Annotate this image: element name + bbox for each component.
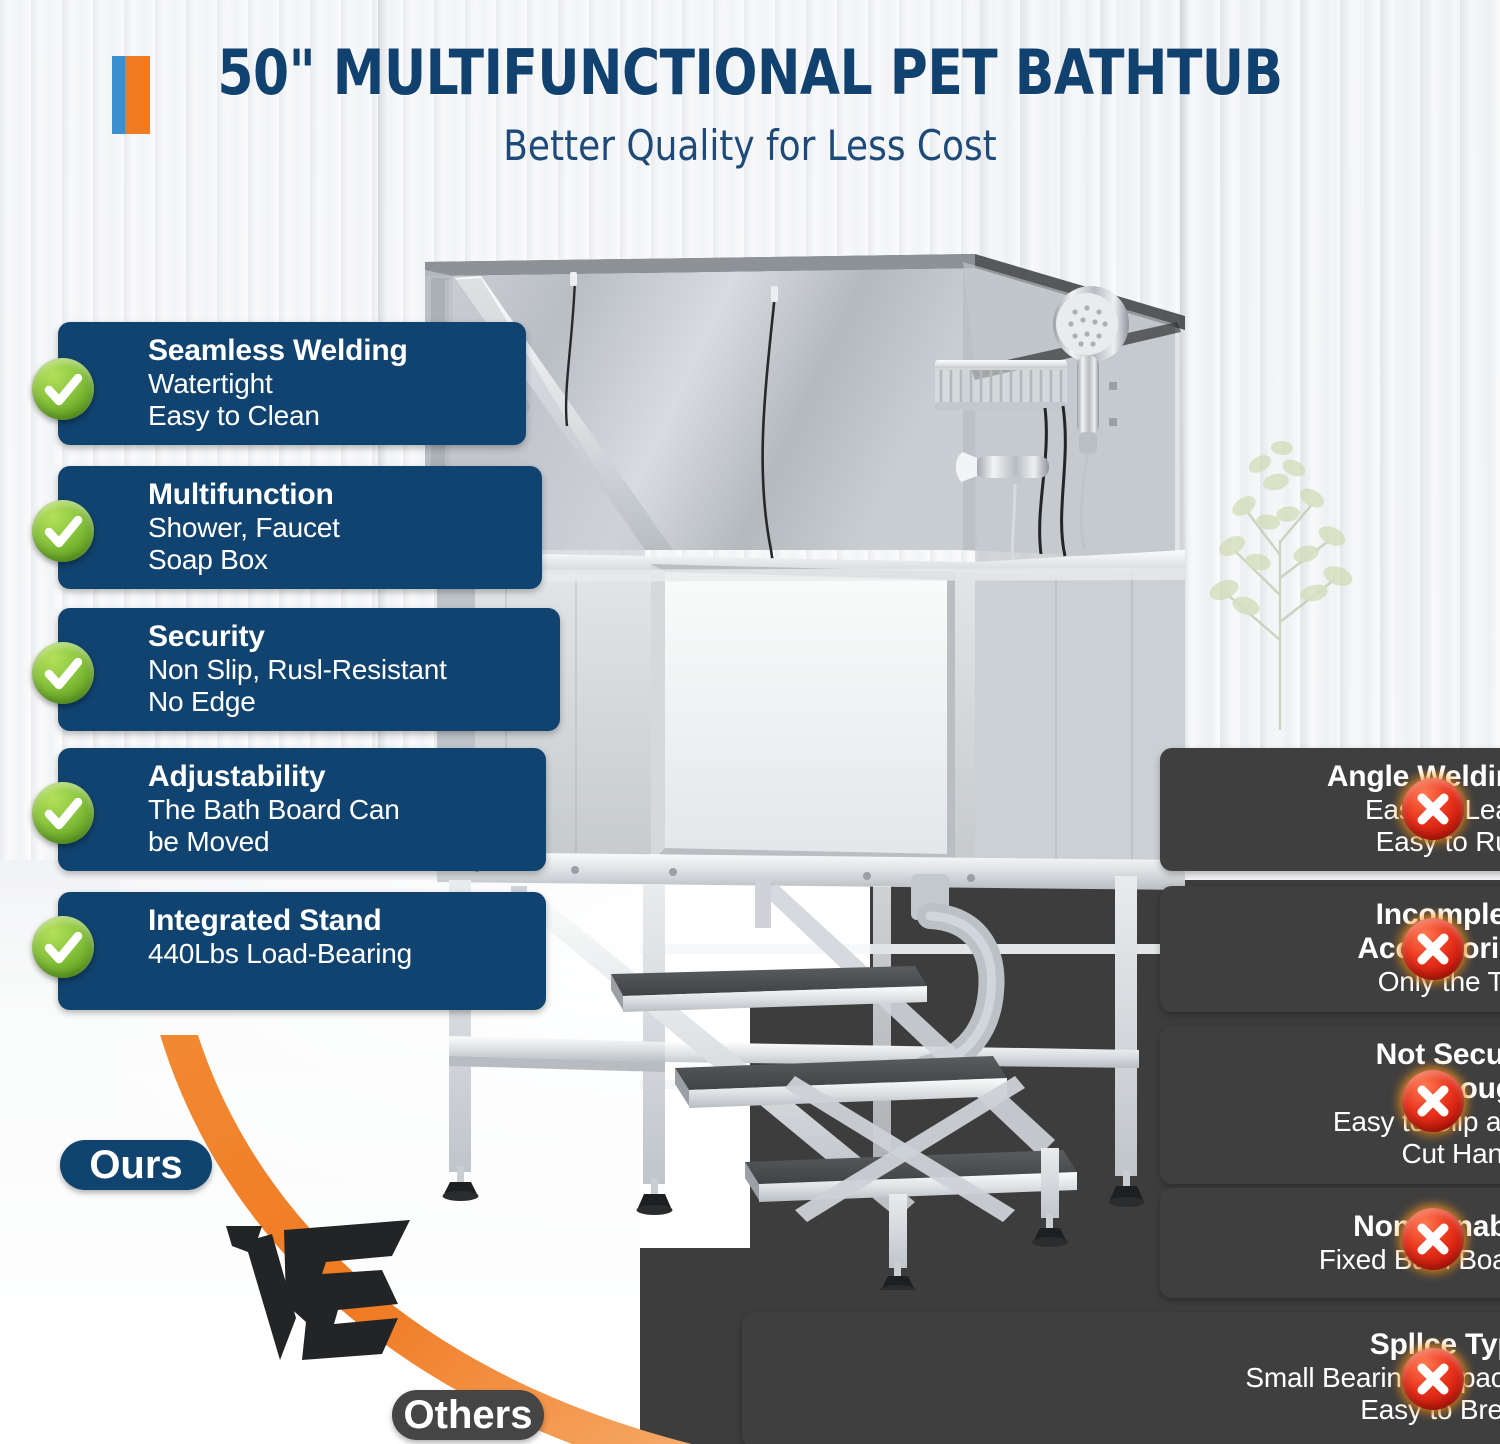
pro-badge-4[interactable]: Adjustability The Bath Board Can be Move… bbox=[58, 748, 546, 871]
shower-handle bbox=[1077, 356, 1099, 434]
con-line: Easy to Break bbox=[762, 1394, 1500, 1426]
cross-icon bbox=[1402, 1208, 1464, 1270]
pro-badge-5[interactable]: Integrated Stand 440Lbs Load-Bearing bbox=[58, 892, 546, 1010]
check-icon bbox=[32, 642, 94, 704]
check-icon bbox=[32, 358, 94, 420]
cross-icon bbox=[1402, 918, 1464, 980]
con-badge-5[interactable]: Spllce Type Small Bearing Capacity Easy … bbox=[742, 1312, 1500, 1444]
pro-line: Easy to Clean bbox=[148, 400, 510, 432]
vs-logo bbox=[222, 1212, 412, 1362]
cross-icon bbox=[1402, 778, 1464, 840]
cross-icon bbox=[1402, 1348, 1464, 1410]
pro-badge-2[interactable]: Multifunction Shower, Faucet Soap Box bbox=[58, 466, 542, 589]
pro-line: The Bath Board Can bbox=[148, 794, 530, 826]
tub-right-panel bbox=[975, 568, 1185, 870]
check-icon bbox=[32, 500, 94, 562]
others-label: Others bbox=[392, 1390, 544, 1440]
adjustable-foot bbox=[880, 1262, 916, 1290]
con-line: Cut Hands bbox=[1180, 1138, 1500, 1170]
page-title: 50" MULTIFUNCTIONAL PET BATHTUB bbox=[53, 40, 1448, 105]
stand-leg bbox=[1115, 876, 1137, 1176]
pro-line: 440Lbs Load-Bearing bbox=[148, 938, 530, 970]
soap-basket bbox=[935, 360, 1067, 410]
pro-title: Security bbox=[148, 620, 544, 654]
pro-badge-1[interactable]: Seamless Welding Watertight Easy to Clea… bbox=[58, 322, 526, 445]
check-icon bbox=[32, 916, 94, 978]
cross-icon bbox=[1402, 1070, 1464, 1132]
header: 50" MULTIFUNCTIONAL PET BATHTUB Better Q… bbox=[0, 40, 1500, 170]
pro-title: Adjustability bbox=[148, 760, 530, 794]
plant-decoration bbox=[1188, 390, 1368, 730]
pro-badge-3[interactable]: Security Non Slip, Rusl-Resistant No Edg… bbox=[58, 608, 560, 731]
adjustable-foot bbox=[1109, 1170, 1145, 1207]
pro-title: Integrated Stand bbox=[148, 904, 530, 938]
adjustable-foot bbox=[443, 1166, 479, 1201]
con-title: Spllce Type bbox=[762, 1328, 1500, 1362]
pro-line: be Moved bbox=[148, 826, 530, 858]
page-subtitle: Better Quality for Less Cost bbox=[38, 121, 1463, 170]
pro-line: No Edge bbox=[148, 686, 544, 718]
pro-title: Seamless Welding bbox=[148, 334, 510, 368]
bath-board bbox=[651, 564, 955, 876]
con-title: Incomplete Accessories bbox=[1302, 898, 1500, 966]
ours-label: Ours bbox=[60, 1140, 212, 1190]
infographic-canvas: Seamless Welding Watertight Easy to Clea… bbox=[0, 0, 1500, 1444]
check-icon bbox=[32, 782, 94, 844]
pro-line: Non Slip, Rusl-Resistant bbox=[148, 654, 544, 686]
pro-line: Soap Box bbox=[148, 544, 526, 576]
stand-leg bbox=[643, 884, 665, 1184]
adjustable-foot bbox=[637, 1178, 673, 1215]
adjustable-foot bbox=[1032, 1214, 1068, 1247]
pro-line: Shower, Faucet bbox=[148, 512, 526, 544]
pro-line: Watertight bbox=[148, 368, 510, 400]
pro-title: Multifunction bbox=[148, 478, 526, 512]
con-line: Small Bearing Capacity bbox=[762, 1362, 1500, 1394]
